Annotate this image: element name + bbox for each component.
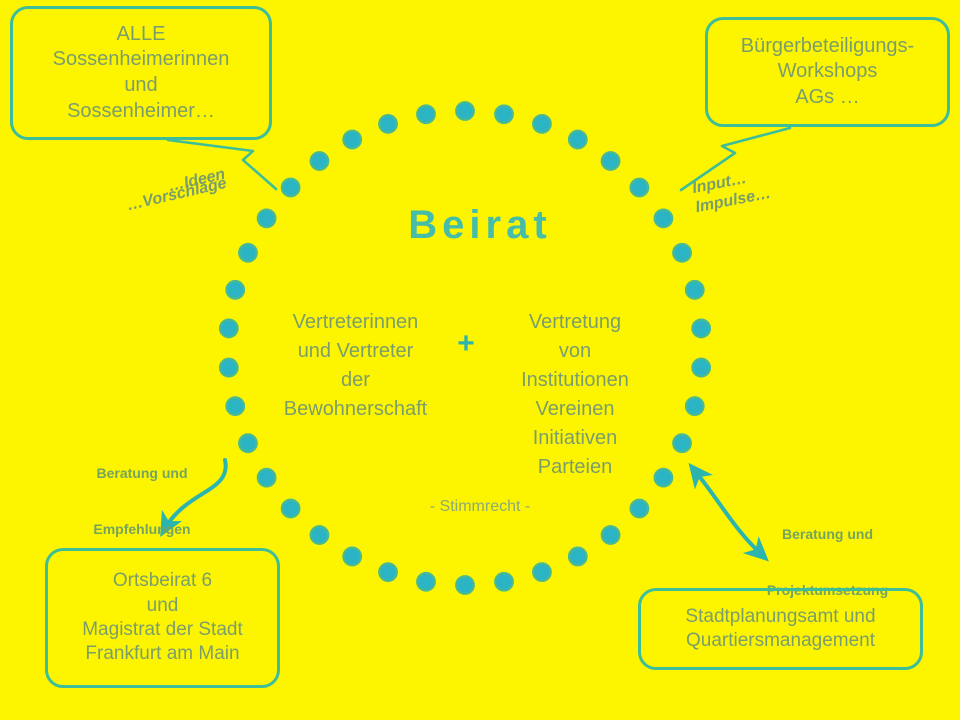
arrow-label-line: Beratung und	[72, 464, 212, 483]
callout-participation-workshops[interactable]: Bürgerbeteiligungs- Workshops AGs …	[705, 17, 950, 127]
callout-all-citizens[interactable]: ALLE Sossenheimerinnen und Sossenheimer…	[10, 6, 272, 140]
callout-line: AGs …	[708, 85, 947, 111]
ring-dot	[495, 573, 513, 591]
box-line: Magistrat der Stadt	[48, 618, 277, 642]
ring-dot	[220, 359, 238, 377]
ring-dot	[379, 563, 397, 581]
page-title: Beirat	[0, 203, 960, 248]
box-stadtplanung-text: Stadtplanungsamt und Quartiersmanagement	[641, 605, 920, 654]
center-right-column: Vertretung von Institutionen Vereinen In…	[490, 308, 660, 482]
box-line: Frankfurt am Main	[48, 642, 277, 666]
ring-dot	[343, 131, 361, 149]
box-line: Ortsbeirat 6	[48, 569, 277, 593]
arrow-label-line: Beratung und	[745, 525, 910, 544]
column-line: Vertreterinnen	[268, 308, 443, 337]
column-line: von	[490, 337, 660, 366]
ring-dot	[311, 152, 329, 170]
ring-dot	[569, 548, 587, 566]
callout-line: Sossenheimer…	[13, 99, 269, 125]
callout-line: Sossenheimerinnen	[13, 47, 269, 73]
ring-dot	[602, 152, 620, 170]
callout-line: ALLE	[13, 22, 269, 48]
ring-dot	[686, 397, 704, 415]
callout-all-citizens-text: ALLE Sossenheimerinnen und Sossenheimer…	[13, 22, 269, 124]
callout-line: und	[13, 73, 269, 99]
box-ortsbeirat-text: Ortsbeirat 6 und Magistrat der Stadt Fra…	[48, 569, 277, 666]
box-stadtplanungsamt-quartiersmanagement[interactable]: Stadtplanungsamt und Quartiersmanagement	[638, 588, 923, 670]
ring-dot	[533, 563, 551, 581]
box-line: und	[48, 594, 277, 618]
ring-dot	[258, 469, 276, 487]
callout-workshops-text: Bürgerbeteiligungs- Workshops AGs …	[708, 34, 947, 111]
diagram-canvas: ALLE Sossenheimerinnen und Sossenheimer……	[0, 0, 960, 720]
arrow-label-line: Empfehlungen	[72, 520, 212, 539]
ring-dot	[692, 320, 710, 338]
ring-dot	[673, 434, 691, 452]
box-line: Stadtplanungsamt und	[641, 605, 920, 629]
ring-dot	[602, 526, 620, 544]
ring-dot	[495, 105, 513, 123]
column-line: Institutionen	[490, 366, 660, 395]
ring-dot	[692, 359, 710, 377]
ring-dot	[417, 573, 435, 591]
ring-dot	[311, 526, 329, 544]
ring-dot	[239, 434, 257, 452]
column-line: der	[268, 366, 443, 395]
ring-dot	[379, 115, 397, 133]
ring-dot	[417, 105, 435, 123]
callout-line: Workshops	[708, 59, 947, 85]
ring-dot	[686, 281, 704, 299]
box-ortsbeirat-magistrat[interactable]: Ortsbeirat 6 und Magistrat der Stadt Fra…	[45, 548, 280, 688]
ring-dot	[533, 115, 551, 133]
column-line: Vereinen	[490, 395, 660, 424]
ring-dot	[220, 320, 238, 338]
ring-dot	[456, 576, 474, 594]
column-line: Parteien	[490, 453, 660, 482]
plus-icon: +	[452, 330, 480, 358]
ring-dot	[456, 102, 474, 120]
callout-line: Bürgerbeteiligungs-	[708, 34, 947, 60]
column-line: und Vertreter	[268, 337, 443, 366]
ring-dot	[282, 179, 300, 197]
column-line: Vertretung	[490, 308, 660, 337]
ring-dot	[226, 281, 244, 299]
ring-dot	[226, 397, 244, 415]
column-line: Bewohnerschaft	[268, 395, 443, 424]
ring-dot	[631, 179, 649, 197]
box-line: Quartiersmanagement	[641, 629, 920, 653]
ring-dot	[569, 131, 587, 149]
ring-dot	[343, 548, 361, 566]
column-line: Initiativen	[490, 424, 660, 453]
center-left-column: Vertreterinnen und Vertreter der Bewohne…	[268, 308, 443, 424]
